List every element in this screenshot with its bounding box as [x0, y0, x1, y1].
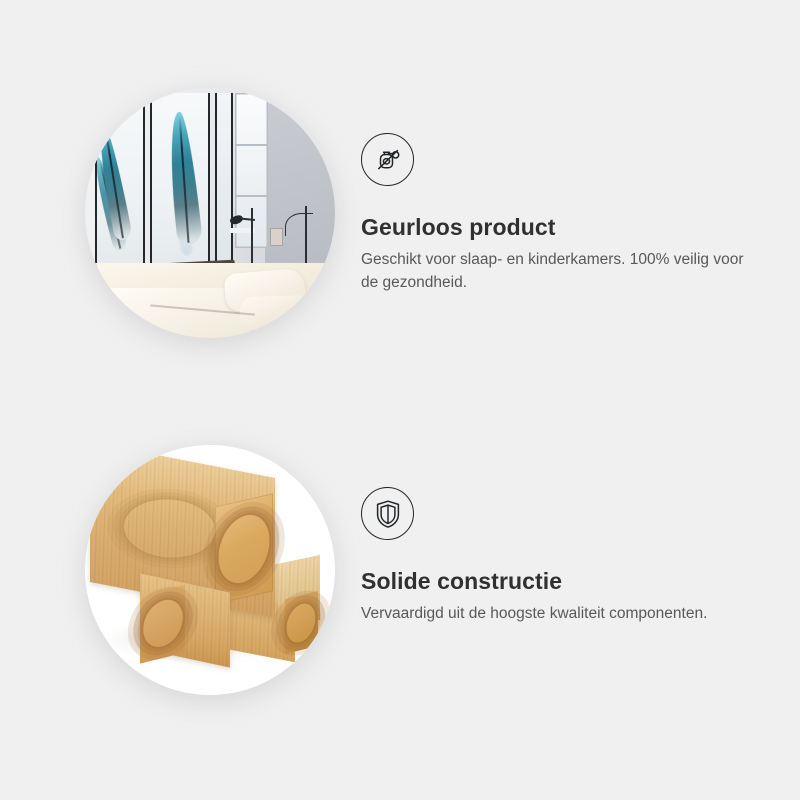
wood-beam-right-endgrain: [285, 591, 318, 654]
no-fragrance-icon: [361, 133, 414, 186]
bedroom-scene: [85, 88, 335, 338]
wood-growth-rings: [284, 602, 318, 644]
bed-pillow: [239, 294, 315, 329]
feature-description: Vervaardigd uit de hoogste kwaliteit com…: [361, 603, 751, 625]
art-panel-center: [150, 93, 210, 278]
bedroom-arc-lamp: [285, 213, 313, 236]
feature-block-solid-construction: Solide constructie Vervaardigd uit de ho…: [0, 425, 800, 765]
wood-growth-rings: [140, 598, 186, 650]
wooden-beams-scene: [85, 445, 335, 695]
feather-shape: [164, 111, 202, 246]
feature-text-solid-construction: Solide constructie Vervaardigd uit de ho…: [361, 487, 761, 626]
art-panel-right: [215, 93, 233, 278]
bedroom-picture-frame: [270, 228, 283, 246]
feature-text-odourless: Geurloos product Geschikt voor slaap- en…: [361, 133, 761, 294]
feature-block-odourless: Geurloos product Geschikt voor slaap- en…: [0, 68, 800, 408]
feature-image-wooden-beams: [85, 445, 335, 695]
art-panel-left: [95, 93, 145, 278]
bedroom-arc-lamp-pole: [305, 206, 307, 266]
feature-description: Geschikt voor slaap- en kinderkamers. 10…: [361, 249, 751, 294]
feature-title: Solide constructie: [361, 568, 761, 594]
shield-icon: [361, 487, 414, 540]
wood-beam-main-endgrain: [215, 493, 273, 604]
feature-title: Geurloos product: [361, 214, 761, 240]
wood-growth-rings: [214, 512, 273, 585]
wood-beam-front-endgrain: [140, 584, 185, 663]
product-feature-banner: Geurloos product Geschikt voor slaap- en…: [0, 0, 800, 800]
feature-image-bedroom: [85, 88, 335, 338]
